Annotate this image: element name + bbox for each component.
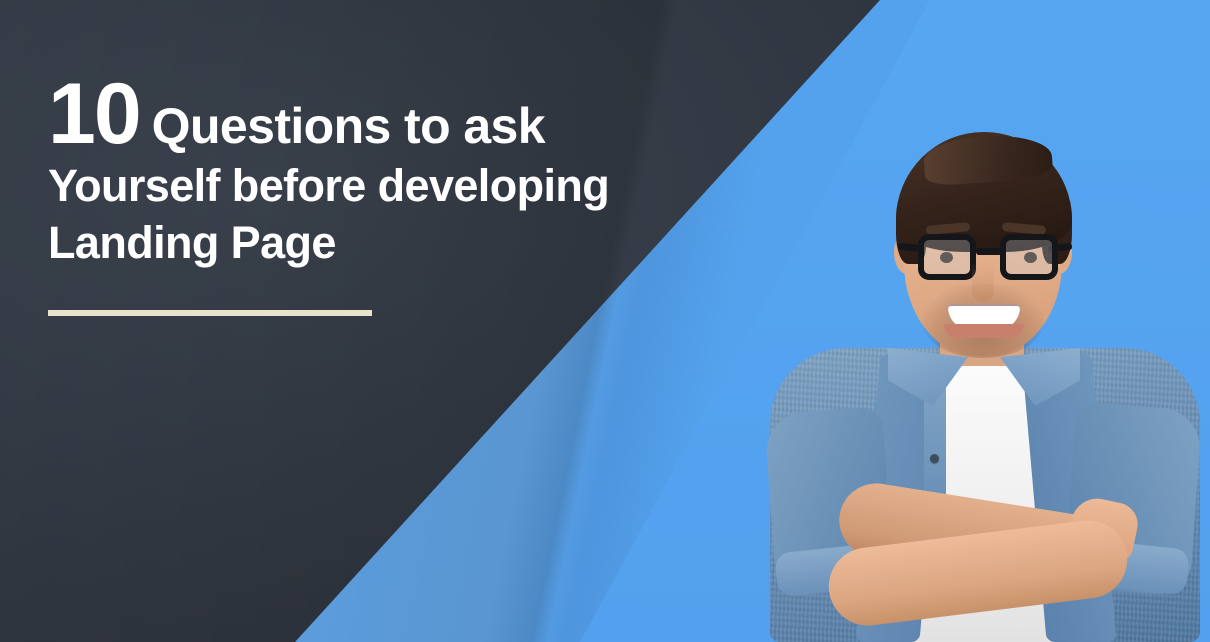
glasses-lens-right (1000, 234, 1058, 280)
man-photo (718, 48, 1210, 642)
shirt-button (930, 454, 939, 463)
landing-page-hero-banner: 10 Questions to ask Yourself before deve… (0, 0, 1210, 642)
headline-line-2: Yourself before developing (48, 157, 688, 214)
glasses-bridge (976, 248, 1002, 255)
headline-block: 10 Questions to ask Yourself before deve… (48, 74, 688, 271)
headline-underline-rule (48, 310, 372, 316)
glasses-lens-left (918, 234, 976, 280)
headline-number: 10 (48, 74, 140, 155)
man-figure (718, 48, 1210, 642)
headline-line-3: Landing Page (48, 214, 688, 271)
headline-line-1-text: Questions to ask (152, 101, 545, 151)
nose (972, 262, 994, 302)
headline-line-1: 10 Questions to ask (48, 74, 688, 155)
lower-lip (944, 324, 1024, 338)
